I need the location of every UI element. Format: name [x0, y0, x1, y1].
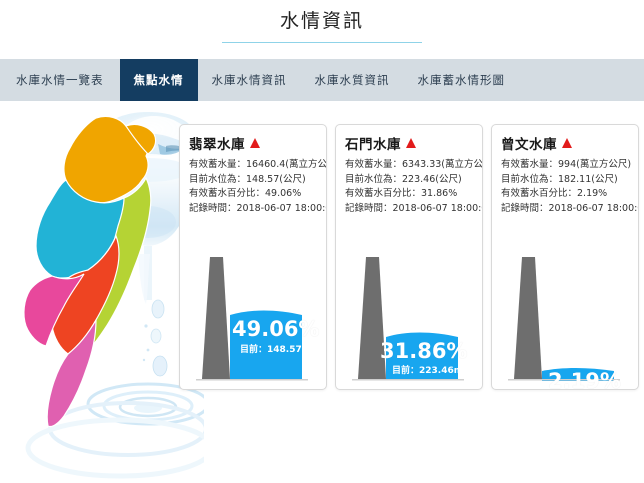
dam-wall-shape [202, 257, 230, 379]
dam-level-chart: 2.19% 目前：182.11m [492, 239, 638, 389]
title-divider [222, 42, 422, 43]
tab-storage-chart[interactable]: 水庫蓄水情形圖 [404, 59, 520, 101]
level-line: 目前水位為：182.11(公尺) [501, 173, 638, 188]
tab-reservoir-overview[interactable]: 水庫水情一覽表 [0, 59, 120, 101]
taiwan-regions [24, 116, 156, 426]
dam-chart-svg [180, 239, 326, 389]
percent-line: 有效蓄水百分比：31.86% [345, 187, 482, 202]
taiwan-map[interactable] [8, 104, 204, 479]
tab-label: 水庫水情一覽表 [16, 72, 104, 88]
time-line: 記錄時間：2018-06-07 18:00:00 [345, 202, 482, 217]
dam-wall-shape [514, 257, 542, 379]
tab-label: 焦點水情 [134, 72, 184, 88]
chart-baseline [352, 379, 464, 381]
page-title: 水情資訊 [0, 6, 644, 33]
card-header: 石門水庫 [336, 125, 482, 153]
percent-value-label: 31.86% [380, 339, 467, 363]
time-line: 記錄時間：2018-06-07 18:00:00 [501, 202, 638, 217]
taiwan-map-svg [8, 104, 204, 479]
tab-label: 水庫水情資訊 [212, 72, 287, 88]
reservoir-name: 翡翠水庫 [189, 133, 245, 153]
tab-label: 水庫蓄水情形圖 [418, 72, 506, 88]
card-stats: 有效蓄水量：16460.4(萬立方公尺) 目前水位為：148.57(公尺) 有效… [180, 153, 326, 216]
percent-line: 有效蓄水百分比：49.06% [189, 187, 326, 202]
storage-line: 有效蓄水量：994(萬立方公尺) [501, 158, 638, 173]
dam-level-chart: 49.06% 目前：148.57m [180, 239, 326, 389]
trend-up-icon [406, 138, 416, 148]
card-header: 曾文水庫 [492, 125, 638, 153]
time-line: 記錄時間：2018-06-07 18:00:00 [189, 202, 326, 217]
page-root: 水情資訊 水庫水情一覽表 焦點水情 水庫水情資訊 水庫水質資訊 水庫蓄水情形圖 [0, 0, 644, 483]
chart-baseline [196, 379, 308, 381]
level-line: 目前水位為：148.57(公尺) [189, 173, 326, 188]
reservoir-card[interactable]: 翡翠水庫 有效蓄水量：16460.4(萬立方公尺) 目前水位為：148.57(公… [179, 124, 327, 390]
tab-water-quality[interactable]: 水庫水質資訊 [301, 59, 404, 101]
tab-bar: 水庫水情一覽表 焦點水情 水庫水情資訊 水庫水質資訊 水庫蓄水情形圖 [0, 59, 644, 101]
reservoir-card[interactable]: 石門水庫 有效蓄水量：6343.33(萬立方公尺) 目前水位為：223.46(公… [335, 124, 483, 390]
reservoir-name: 曾文水庫 [501, 133, 557, 153]
card-header: 翡翠水庫 [180, 125, 326, 153]
tab-reservoir-info[interactable]: 水庫水情資訊 [198, 59, 301, 101]
reservoir-card[interactable]: 曾文水庫 有效蓄水量：994(萬立方公尺) 目前水位為：182.11(公尺) 有… [491, 124, 639, 390]
current-level-label: 目前：223.46m [392, 363, 463, 376]
percent-line: 有效蓄水百分比：2.19% [501, 187, 638, 202]
storage-line: 有效蓄水量：16460.4(萬立方公尺) [189, 158, 326, 173]
dam-level-chart: 31.86% 目前：223.46m [336, 239, 482, 389]
trend-up-icon [562, 138, 572, 148]
current-level-label: 目前：148.57m [240, 342, 311, 355]
tab-label: 水庫水質資訊 [315, 72, 390, 88]
reservoir-name: 石門水庫 [345, 133, 401, 153]
storage-line: 有效蓄水量：6343.33(萬立方公尺) [345, 158, 482, 173]
card-stats: 有效蓄水量：6343.33(萬立方公尺) 目前水位為：223.46(公尺) 有效… [336, 153, 482, 216]
tab-focus-status[interactable]: 焦點水情 [120, 59, 198, 101]
level-line: 目前水位為：223.46(公尺) [345, 173, 482, 188]
trend-up-icon [250, 138, 260, 148]
percent-value-label: 2.19% [548, 369, 621, 390]
card-stats: 有效蓄水量：994(萬立方公尺) 目前水位為：182.11(公尺) 有效蓄水百分… [492, 153, 638, 216]
reservoir-card-list: 翡翠水庫 有效蓄水量：16460.4(萬立方公尺) 目前水位為：148.57(公… [179, 124, 639, 391]
percent-value-label: 49.06% [232, 317, 319, 341]
dam-chart-svg [492, 239, 638, 389]
